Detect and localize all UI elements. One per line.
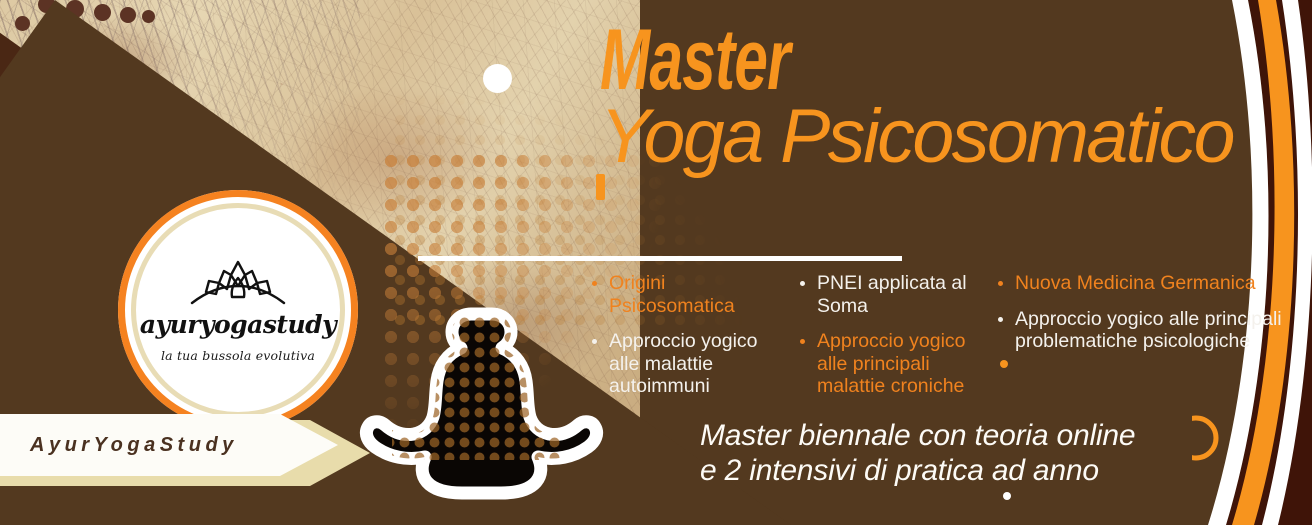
topics-column-2: PNEI applicata al Soma Approccio yogico … xyxy=(794,272,992,411)
list-item: Nuova Medicina Germanica xyxy=(992,272,1292,295)
tagline-line-2: e 2 intensivi di pratica ad anno xyxy=(700,453,1135,488)
list-item: Approccio yogico alle principali problem… xyxy=(992,308,1292,353)
logo-badge[interactable]: ayuryogastudy la tua bussola evolutiva xyxy=(118,190,358,430)
logo-wordmark: ayuryogastudy xyxy=(140,312,336,337)
page-title-line1: Master xyxy=(600,18,1090,102)
white-circle-accent xyxy=(483,64,512,93)
page-title-line2: Yoga Psicosomatico xyxy=(600,98,1293,176)
yogi-halftone-overlay xyxy=(392,310,562,460)
promo-banner: Master Yoga Psicosomatico Origini Psicos… xyxy=(0,0,1312,525)
stray-dot-white-1 xyxy=(1003,492,1011,500)
topic-list-2: PNEI applicata al Soma Approccio yogico … xyxy=(794,272,992,398)
ribbon-brand-label: AyurYogaStudy xyxy=(30,434,238,457)
headline-block: Master Yoga Psicosomatico xyxy=(600,18,1300,176)
logo-inner-circle: ayuryogastudy la tua bussola evolutiva xyxy=(140,212,336,408)
topics-column-3: Nuova Medicina Germanica Approccio yogic… xyxy=(992,272,1292,366)
tagline-line-1: Master biennale con teoria online xyxy=(700,418,1135,453)
lotus-crown-icon xyxy=(186,258,290,310)
banner-tagline: Master biennale con teoria online e 2 in… xyxy=(700,418,1135,488)
topic-list-3: Nuova Medicina Germanica Approccio yogic… xyxy=(992,272,1292,353)
brand-ribbon: AyurYogaStudy xyxy=(0,420,370,486)
logo-tagline: la tua bussola evolutiva xyxy=(161,348,315,363)
list-item: Approccio yogico alle principali malatti… xyxy=(794,330,992,398)
white-horizontal-rule xyxy=(418,256,902,261)
meditating-yogi-silhouette xyxy=(352,300,632,525)
ribbon-white-layer: AyurYogaStudy xyxy=(0,414,338,476)
orange-ring-icon xyxy=(1192,418,1216,458)
list-item: PNEI applicata al Soma xyxy=(794,272,992,317)
